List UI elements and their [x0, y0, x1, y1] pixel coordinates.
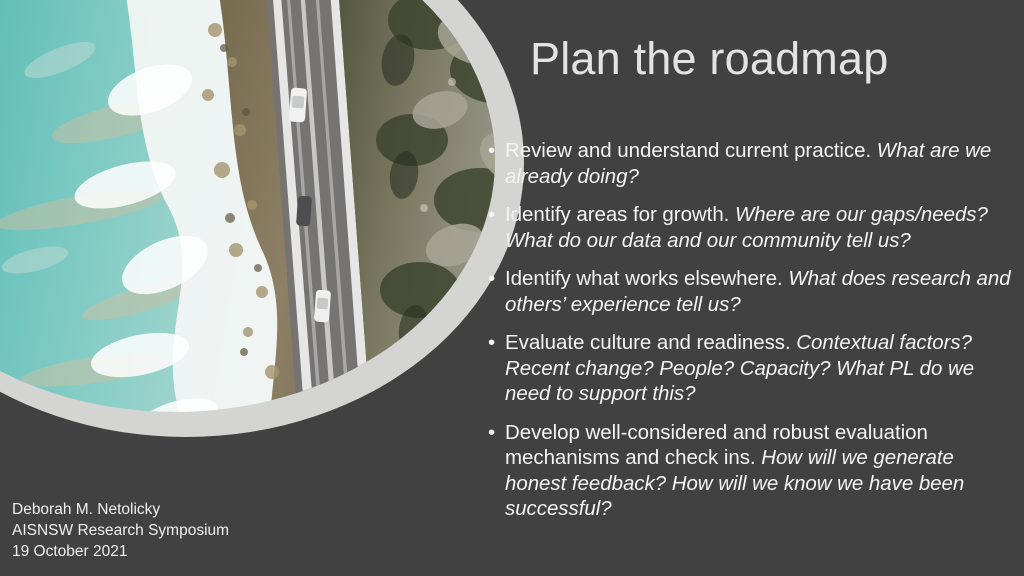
presentation-slide: Plan the roadmap • Review and understand… — [0, 0, 1024, 576]
bullet-lead-text: Identify what works elsewhere. — [505, 267, 788, 290]
slide-content: Plan the roadmap • Review and understand… — [481, 0, 1024, 576]
bullet-lead-text: Identify areas for growth. — [505, 203, 735, 226]
coastal-road-aerial-illustration — [0, 0, 560, 576]
list-item: • Review and understand current practice… — [481, 138, 1019, 189]
photo-ring — [0, 0, 524, 437]
presentation-date: 19 October 2021 — [12, 541, 229, 562]
list-item: • Identify areas for growth. Where are o… — [481, 202, 1019, 253]
photo-content — [0, 0, 560, 576]
bullet-marker-icon: • — [488, 138, 502, 164]
vehicle — [289, 87, 307, 122]
bullet-marker-icon: • — [488, 266, 502, 292]
bullet-marker-icon: • — [488, 330, 502, 356]
list-item: • Develop well-considered and robust eva… — [481, 420, 1019, 522]
footer-credit: Deborah M. Netolicky AISNSW Research Sym… — [12, 499, 229, 562]
coastal-road — [258, 0, 392, 576]
decorative-photo-panel — [0, 0, 560, 576]
page-title: Plan the roadmap — [530, 32, 888, 86]
list-item: • Identify what works elsewhere. What do… — [481, 266, 1019, 317]
event-name: AISNSW Research Symposium — [12, 520, 229, 541]
list-item: • Evaluate culture and readiness. Contex… — [481, 330, 1019, 407]
presenter-name: Deborah M. Netolicky — [12, 499, 229, 520]
vehicle — [314, 290, 331, 323]
bullet-marker-icon: • — [488, 420, 502, 446]
bullet-marker-icon: • — [488, 202, 502, 228]
bullet-lead-text: Evaluate culture and readiness. — [505, 331, 796, 354]
vehicle — [296, 196, 312, 227]
bullet-list: • Review and understand current practice… — [481, 138, 1019, 522]
bullet-lead-text: Review and understand current practice. — [505, 139, 877, 162]
